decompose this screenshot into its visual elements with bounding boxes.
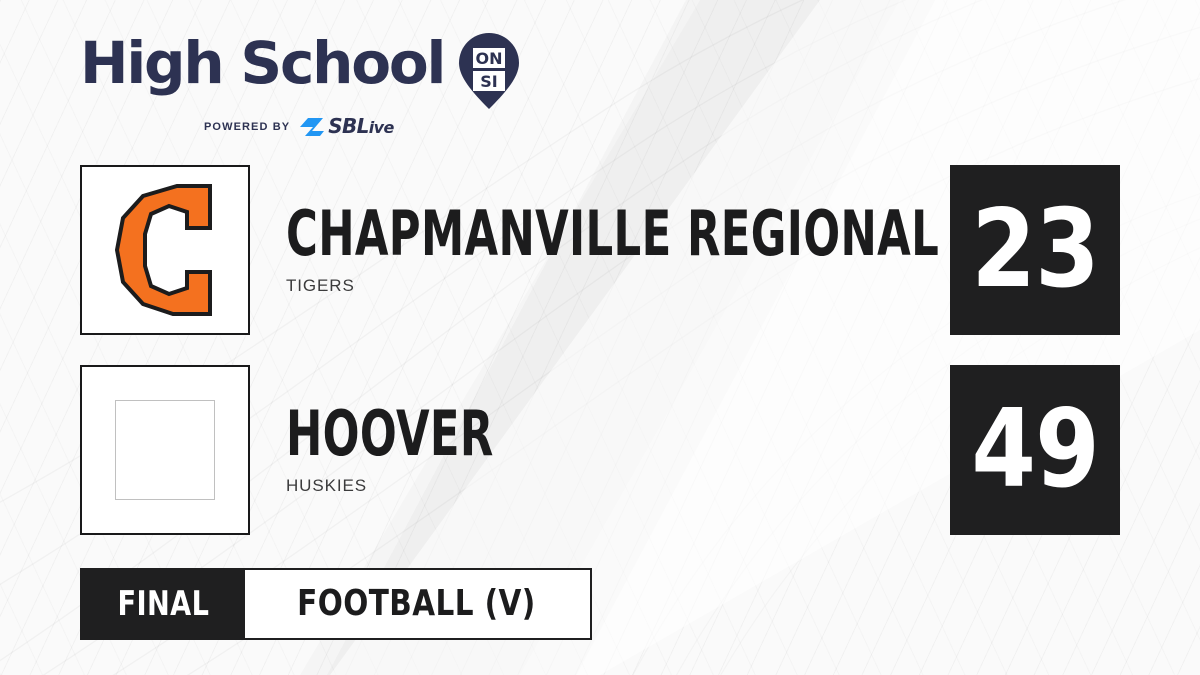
team-score-box: 23 bbox=[950, 165, 1120, 335]
sblive-s-mark-icon bbox=[299, 117, 325, 137]
powered-by-row: POWERED BY SBLive bbox=[204, 116, 520, 138]
pin-label-on: ON bbox=[476, 49, 503, 68]
sblive-logo: SBLive bbox=[299, 116, 394, 138]
missing-image-placeholder-icon bbox=[115, 400, 215, 500]
team-score: 49 bbox=[971, 396, 1099, 504]
team-row: CHAPMANVILLE REGIONAL TIGERS 23 bbox=[0, 165, 1200, 335]
onsi-pin-icon: ON SI bbox=[458, 32, 520, 110]
game-status-label: FINAL bbox=[117, 587, 209, 621]
team-mascot: HUSKIES bbox=[286, 476, 583, 496]
team-logo-box bbox=[80, 365, 250, 535]
sblive-wordmark: SBLive bbox=[328, 116, 394, 138]
sport-label: FOOTBALL (V) bbox=[297, 586, 535, 622]
pin-label-si: SI bbox=[481, 72, 498, 91]
sblive-word-tail: ive bbox=[369, 118, 394, 137]
status-bar: FINAL FOOTBALL (V) bbox=[80, 568, 592, 640]
team-name: HOOVER bbox=[286, 404, 494, 464]
team-name: CHAPMANVILLE REGIONAL bbox=[286, 204, 939, 264]
brand-wordmark-row: High School ON SI bbox=[80, 34, 520, 110]
team-row: HOOVER HUSKIES 49 bbox=[0, 365, 1200, 535]
brand-wordmark: High School bbox=[80, 34, 444, 92]
team-score: 23 bbox=[971, 196, 1099, 304]
sport-label-container: FOOTBALL (V) bbox=[245, 570, 590, 638]
brand-header: High School ON SI POWERED BY SBLive bbox=[80, 34, 520, 138]
block-letter-c-logo-icon bbox=[113, 184, 217, 316]
scoreboard-graphic: High School ON SI POWERED BY SBLive bbox=[0, 0, 1200, 675]
game-status-badge: FINAL bbox=[82, 570, 245, 638]
team-text-block: HOOVER HUSKIES bbox=[286, 365, 583, 535]
powered-by-label: POWERED BY bbox=[204, 121, 290, 133]
team-score-box: 49 bbox=[950, 365, 1120, 535]
team-logo-box bbox=[80, 165, 250, 335]
sblive-word-main: SBL bbox=[328, 114, 369, 138]
